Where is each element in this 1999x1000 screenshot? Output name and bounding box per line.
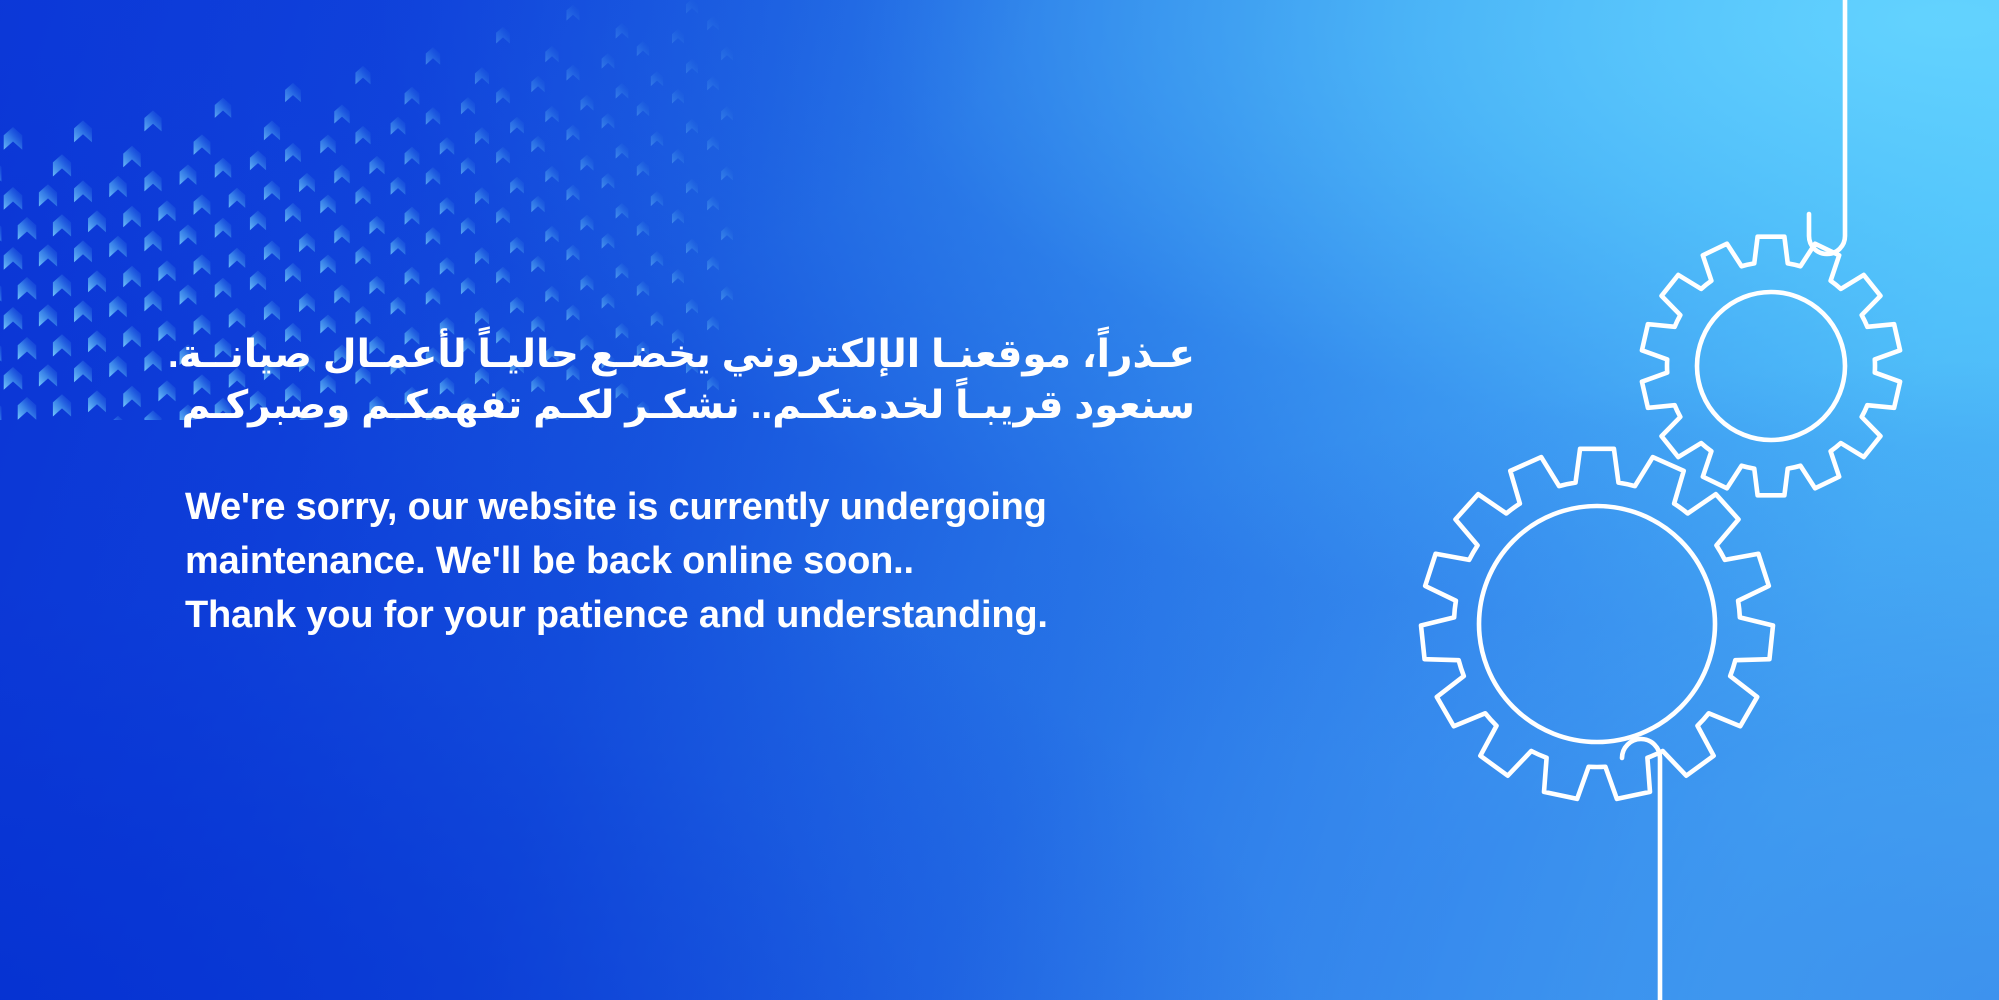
- arabic-line-2: سنعود قريبـاً لخدمتكـم.. نشكـر لكـم تفهم…: [185, 381, 1195, 432]
- message-block: عـذراً، موقعنـا الإلكتروني يخضـع حاليـاً…: [185, 330, 1195, 643]
- maintenance-page: عـذراً، موقعنـا الإلكتروني يخضـع حاليـاً…: [0, 0, 1999, 1000]
- arabic-line-1: عـذراً، موقعنـا الإلكتروني يخضـع حاليـاً…: [185, 330, 1195, 381]
- english-message: We're sorry, our website is currently un…: [185, 481, 1195, 643]
- arabic-message: عـذراً، موقعنـا الإلكتروني يخضـع حاليـاً…: [185, 330, 1195, 431]
- message-spacer: [185, 431, 1195, 481]
- english-line-1: We're sorry, our website is currently un…: [185, 481, 1195, 535]
- english-line-2: maintenance. We'll be back online soon..: [185, 535, 1195, 589]
- english-line-3: Thank you for your patience and understa…: [185, 589, 1195, 643]
